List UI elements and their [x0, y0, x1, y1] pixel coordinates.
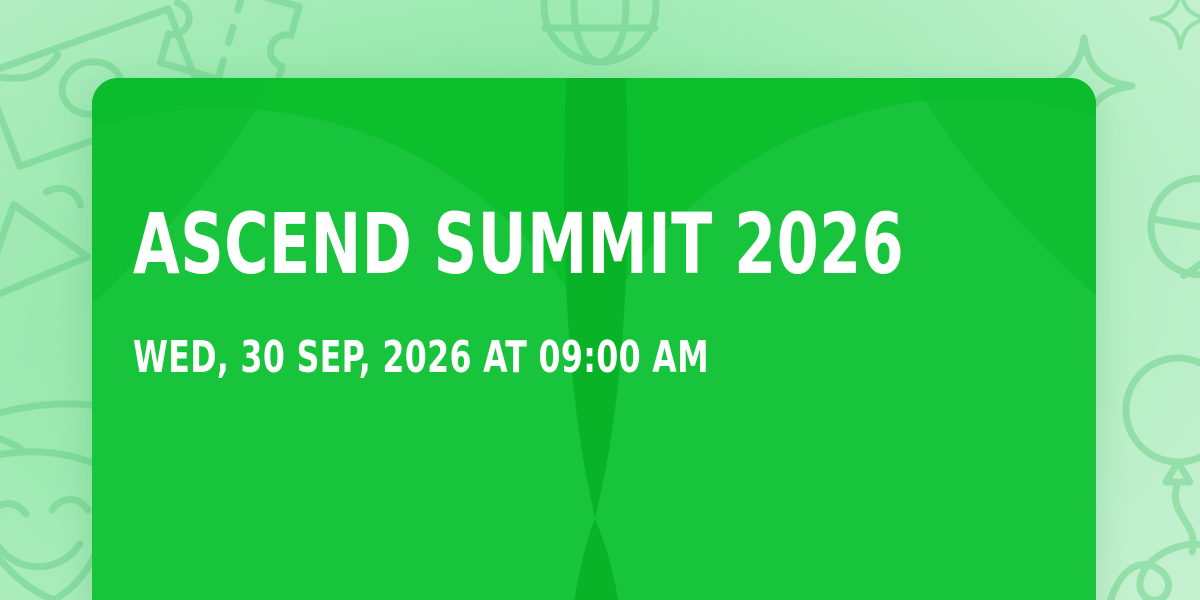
sparkle-icon — [1152, 0, 1200, 48]
event-banner: Ascend Summit 2026 Wed, 30 Sep, 2026 at … — [0, 0, 1200, 600]
event-card[interactable]: Ascend Summit 2026 Wed, 30 Sep, 2026 at … — [92, 78, 1096, 600]
card-content: Ascend Summit 2026 Wed, 30 Sep, 2026 at … — [133, 78, 1055, 600]
event-datetime: Wed, 30 Sep, 2026 at 09:00 AM — [133, 336, 709, 380]
balloon-icon — [1126, 358, 1200, 552]
microphone-icon — [1132, 160, 1200, 333]
confetti-icon — [1090, 518, 1200, 600]
globe-icon — [544, 0, 656, 62]
event-title: Ascend Summit 2026 — [133, 206, 904, 283]
